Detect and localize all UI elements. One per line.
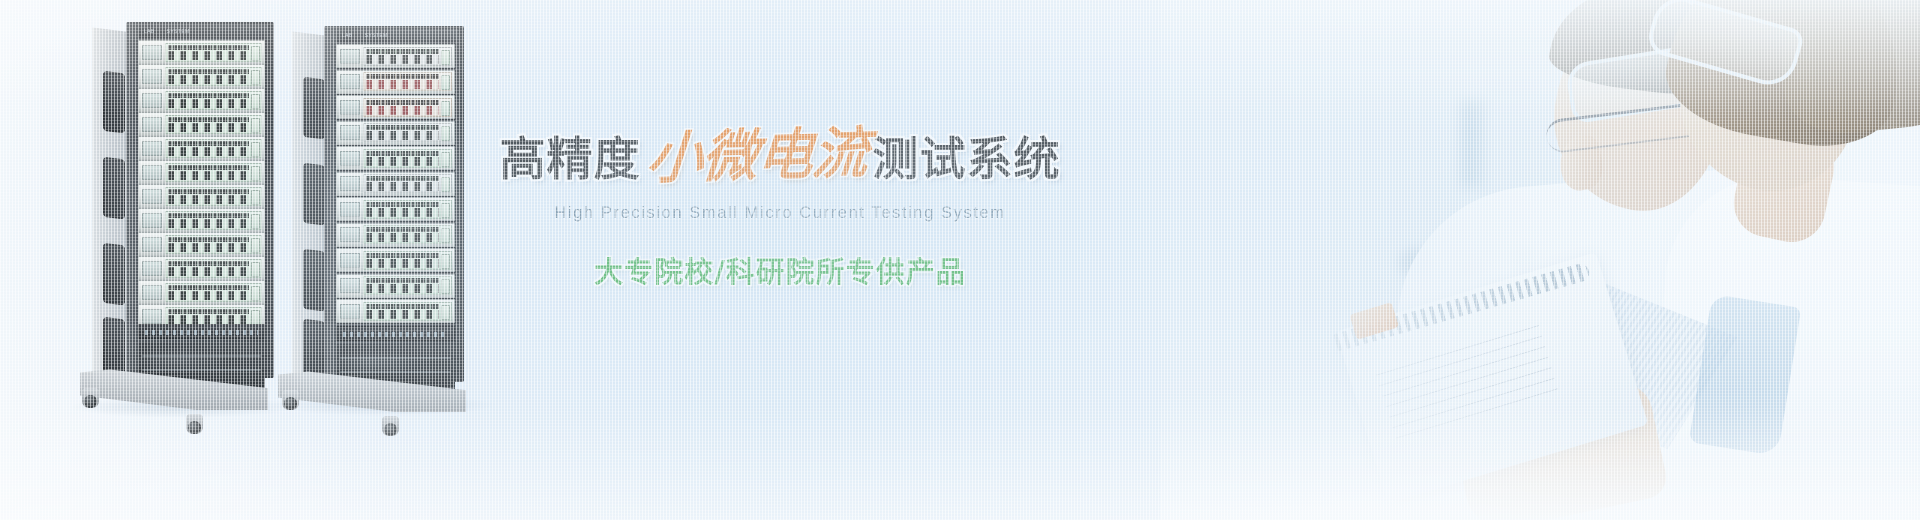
unit-display [142,93,162,108]
rack-instrument-unit [336,274,455,298]
unit-front-panel [165,43,262,62]
unit-port-row [168,99,249,108]
unit-handle [441,177,450,192]
unit-display [340,74,360,89]
headline-suffix: 测试系统 [873,136,1061,182]
unit-indicator-row [366,49,439,54]
unit-front-panel [165,67,262,86]
unit-front-panel [363,72,452,91]
unit-port-row [366,55,439,64]
unit-port-row [366,233,439,242]
unit-front-panel [165,115,262,134]
unit-handle [251,118,260,133]
unit-front-panel [363,251,452,270]
unit-port-row [168,123,249,132]
unit-handle [251,286,260,301]
unit-front-panel [165,91,262,110]
unit-indicator-row [168,165,249,170]
unit-front-panel [165,283,262,302]
rack-instrument-unit [138,208,265,232]
unit-handle [251,238,260,253]
unit-indicator-row [168,69,249,74]
unit-indicator-row [168,213,249,218]
rack-vent-slot [303,77,325,140]
unit-handle [441,126,450,141]
rack-model-text: SYSTEM [365,33,388,39]
unit-indicator-row [366,304,439,309]
unit-front-panel [363,98,452,117]
unit-handle [441,101,450,116]
rack-instrument-unit [336,248,455,272]
unit-port-row [366,208,439,217]
unit-display [142,261,162,276]
unit-port-row [366,106,439,115]
unit-display [340,227,360,242]
product-hero-banner: LAB SYSTEM LAB SYSTEM [0,0,1920,520]
rack-vent-slot [103,71,125,134]
rack-instrument-unit [336,223,455,247]
rack-instrument-unit [138,256,265,280]
unit-front-panel [165,163,262,182]
unit-indicator-row [168,189,249,194]
banner-copy: 高精度 小微电流 测试系统 High Precision Small Micro… [520,128,1040,291]
unit-display [340,202,360,217]
rack-vent-slot [103,157,125,220]
unit-front-panel [363,302,452,321]
unit-indicator-row [168,309,249,314]
rack-vent-slot [103,243,125,306]
unit-handle [251,214,260,229]
rack-instrument-unit [336,44,455,68]
unit-indicator-row [366,227,439,232]
unit-display [142,285,162,300]
unit-port-row [366,310,439,319]
unit-port-row [168,243,249,252]
rack-instrument-unit [138,40,265,64]
unit-front-panel [165,259,262,278]
unit-handle [251,190,260,205]
unit-handle [441,152,450,167]
rack-instrument-unit [336,172,455,196]
rack-brand-plate: LAB SYSTEM [336,29,458,42]
unit-port-row [366,259,439,268]
unit-handle [251,142,260,157]
unit-front-panel [363,174,452,193]
rack-instrument-unit [336,299,455,323]
unit-front-panel [165,139,262,158]
unit-port-row [366,182,439,191]
rack-led-row [145,330,258,335]
unit-indicator-row [168,285,249,290]
unit-port-row [168,51,249,60]
unit-indicator-row [366,253,439,258]
unit-indicator-row [168,141,249,146]
rack-instrument-unit [138,136,265,160]
subtitle-chinese: 大专院校/科研院所专供产品 [520,249,1040,291]
rack-control-strip [138,324,265,339]
unit-port-row [168,219,249,228]
unit-indicator-row [366,125,439,130]
unit-front-panel [165,307,262,326]
rack-instrument-unit [138,160,265,184]
unit-handle [441,279,450,294]
unit-front-panel [165,187,262,206]
unit-display [142,309,162,324]
unit-front-panel [363,225,452,244]
unit-handle [441,50,450,65]
unit-handle [251,46,260,61]
unit-display [142,165,162,180]
unit-front-panel [363,149,452,168]
unit-display [142,69,162,84]
unit-display [142,141,162,156]
rack-brand-text: LAB [144,29,155,35]
unit-indicator-row [168,93,249,98]
unit-indicator-row [366,278,439,283]
unit-display [340,151,360,166]
rack-vent-slot [303,249,325,312]
rack-brand-plate: LAB SYSTEM [138,25,268,38]
unit-indicator-row [168,261,249,266]
unit-display [142,213,162,228]
rack-instrument-unit [138,280,265,304]
rack-caster [82,388,99,408]
rack-instrument-unit [138,112,265,136]
unit-display [340,253,360,268]
unit-port-row [168,267,249,276]
unit-indicator-row [366,100,439,105]
rack-instrument-unit [336,95,455,119]
unit-display [340,49,360,64]
unit-port-row [168,75,249,84]
rack-instrument-unit [138,64,265,88]
unit-handle [251,310,260,325]
unit-port-row [168,315,249,324]
headline: 高精度 小微电流 测试系统 [520,128,1040,184]
unit-front-panel [363,276,452,295]
unit-handle [441,254,450,269]
rack-caster [382,416,399,436]
rack-instrument-unit [138,184,265,208]
unit-display [142,117,162,132]
rack-control-strip [336,326,455,341]
headline-prefix: 高精度 [500,136,641,182]
unit-port-row [366,284,439,293]
rack-instrument-unit [138,232,265,256]
rack-brand-text: LAB [342,33,353,39]
unit-display [340,125,360,140]
lab-scientists-photo [1160,0,1920,520]
rack-caster [282,390,299,410]
unit-front-panel [165,235,262,254]
rack-model-text: SYSTEM [167,29,190,35]
rack-led-row [343,332,448,337]
unit-handle [251,70,260,85]
unit-port-row [366,131,439,140]
unit-port-row [168,195,249,204]
unit-handle [251,94,260,109]
unit-front-panel [363,47,452,66]
unit-front-panel [165,211,262,230]
rack-vent-slot [303,163,325,226]
unit-display [340,176,360,191]
unit-display [142,237,162,252]
rack-instrument-unit [336,197,455,221]
unit-port-row [168,291,249,300]
unit-indicator-row [366,151,439,156]
unit-display [340,304,360,319]
unit-indicator-row [366,176,439,181]
unit-front-panel [363,200,452,219]
unit-display [142,45,162,60]
unit-handle [441,75,450,90]
unit-front-panel [363,123,452,142]
unit-display [340,278,360,293]
unit-port-row [366,80,439,89]
unit-handle [251,166,260,181]
unit-handle [441,305,450,320]
unit-indicator-row [168,117,249,122]
rack-instrument-unit [336,146,455,170]
unit-port-row [168,171,249,180]
photo-blue-wash [1160,0,1920,520]
unit-indicator-row [168,237,249,242]
subtitle-english: High Precision Small Micro Current Testi… [520,204,1040,223]
unit-port-row [168,147,249,156]
headline-emphasis: 小微电流 [644,125,869,187]
unit-display [340,100,360,115]
rack-instrument-unit [336,70,455,94]
unit-display [142,189,162,204]
unit-handle [251,262,260,277]
unit-port-row [366,157,439,166]
unit-indicator-row [366,202,439,207]
unit-indicator-row [366,74,439,79]
rack-instrument-unit [138,88,265,112]
unit-indicator-row [168,45,249,50]
unit-handle [441,203,450,218]
rack-instrument-unit [336,121,455,145]
unit-handle [441,228,450,243]
rack-caster [186,414,203,434]
